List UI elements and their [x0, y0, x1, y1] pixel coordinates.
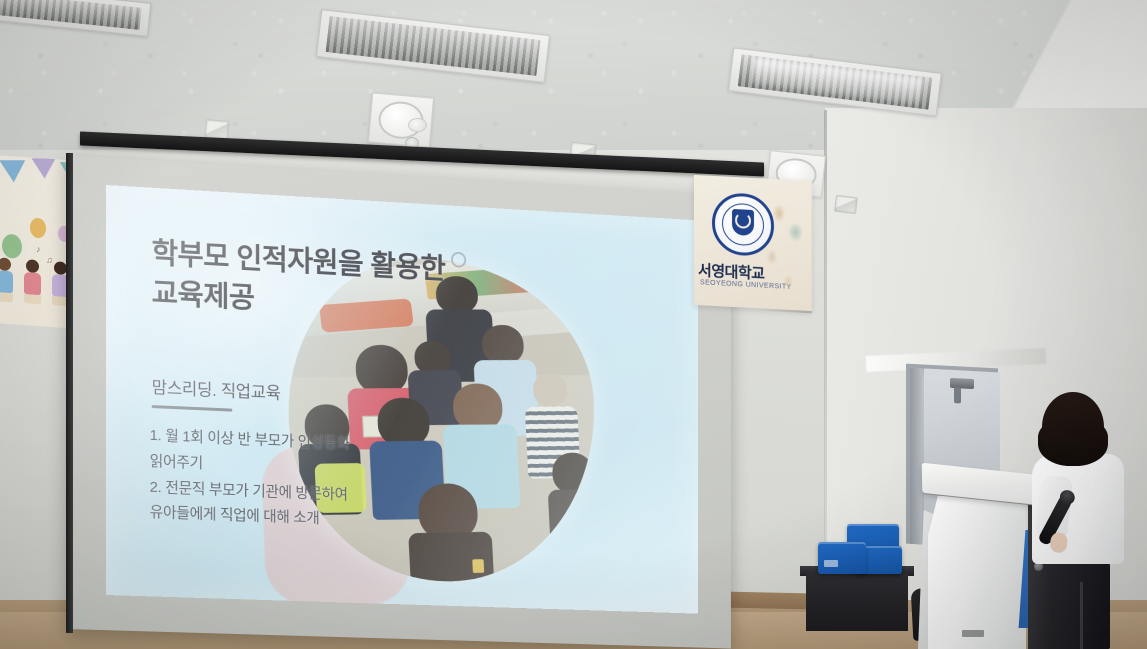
door-jamb [910, 368, 922, 545]
ceiling-speaker-icon [834, 195, 858, 215]
dark-table [806, 573, 908, 631]
presenter-hair-top [1042, 392, 1104, 462]
projection-screen: 학부모 인적자원을 활용한 교육제공 맘스리딩. 직업교육 1. 월 1회 이상… [66, 147, 766, 637]
photo-child [546, 452, 603, 557]
slide-divider-rule [152, 405, 233, 412]
presenter-leg-split [1080, 582, 1083, 649]
blue-crate [818, 542, 866, 574]
presenter [1030, 392, 1126, 649]
downlight-icon [408, 118, 427, 132]
screen-left-edge [66, 153, 73, 633]
lecture-hall-photo: ♪ ♫ [0, 0, 1147, 649]
university-banner: 서영대학교 SEOYEONG UNIVERSITY [694, 175, 812, 311]
bunting-triangle-icon [0, 160, 27, 182]
presenter-arm [1035, 474, 1073, 539]
balloon-icon [30, 218, 46, 239]
crate-label [824, 560, 838, 567]
bunting-triangle-icon [31, 158, 56, 178]
lectern-logo [962, 630, 984, 637]
slide-body-list: 1. 월 1회 이상 반 부모가 인성동화 읽어주기 2. 전문직 부모가 기관… [150, 423, 441, 536]
projected-slide: 학부모 인적자원을 활용한 교육제공 맘스리딩. 직업교육 1. 월 1회 이상… [106, 185, 698, 614]
music-note-icon: ♪ [36, 244, 41, 254]
balloon-icon [2, 234, 22, 259]
banner-decorations [694, 175, 812, 311]
cartoon-child-figure [24, 259, 41, 304]
slide-title: 학부모 인적자원을 활용한 교육제공 [152, 234, 565, 335]
slide-subtitle: 맘스리딩. 직업교육 [152, 373, 281, 404]
lectern-body [928, 496, 1026, 649]
cartoon-child-figure [0, 257, 13, 302]
door-closer-icon [950, 378, 974, 389]
